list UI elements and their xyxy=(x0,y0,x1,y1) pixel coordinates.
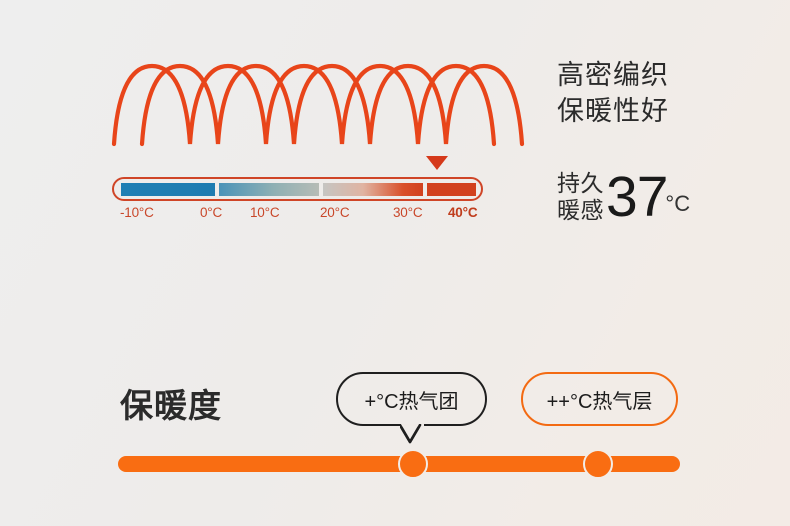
temperature-tick-labels: -10°C 0°C 10°C 20°C 30°C 40°C xyxy=(110,205,490,227)
heat-wave-coil-graphic xyxy=(108,44,528,152)
headline-line-2: 保暖性好 xyxy=(557,94,669,130)
temperature-readout: 持久 暖感 37 °C xyxy=(557,170,690,224)
warmth-section-title: 保暖度 xyxy=(120,379,222,427)
temperature-segment-cold xyxy=(121,183,215,196)
bubble-hot-air-mass-tail-icon xyxy=(400,424,426,444)
temperature-tick-10: 10°C xyxy=(250,205,279,220)
bubble-hot-air-layer-label: ++°C热气层 xyxy=(547,385,653,414)
readout-label-line-1: 持久 xyxy=(557,170,604,197)
readout-unit: °C xyxy=(665,191,690,217)
warmth-slider-knob-2[interactable] xyxy=(583,449,613,479)
temperature-tick-0: 0°C xyxy=(200,205,222,220)
warmth-level-slider[interactable] xyxy=(118,449,680,479)
readout-label-line-2: 暖感 xyxy=(557,197,604,224)
temperature-segment-warm xyxy=(323,183,423,196)
temperature-tick-minus10: -10°C xyxy=(120,205,154,220)
headline-line-1: 高密编织 xyxy=(557,58,669,94)
bubble-hot-air-layer[interactable]: ++°C热气层 xyxy=(521,372,678,426)
bubble-hot-air-mass-label: +°C热气团 xyxy=(364,385,458,414)
readout-label: 持久 暖感 xyxy=(557,170,604,223)
promo-banner: -10°C 0°C 10°C 20°C 30°C 40°C 高密编织 保暖性好 … xyxy=(0,0,790,526)
readout-value: 37 xyxy=(606,170,667,224)
temperature-segment-hot xyxy=(427,183,476,196)
temperature-tick-30: 30°C xyxy=(393,205,422,220)
temperature-marker-triangle-icon xyxy=(426,156,448,170)
temperature-bar-segments xyxy=(121,183,476,196)
bubble-hot-air-mass[interactable]: +°C热气团 xyxy=(336,372,487,426)
temperature-segment-cool xyxy=(219,183,319,196)
temperature-tick-40: 40°C xyxy=(448,205,477,220)
temperature-scale: -10°C 0°C 10°C 20°C 30°C 40°C xyxy=(110,156,492,236)
headline-block: 高密编织 保暖性好 xyxy=(557,58,669,130)
warmth-slider-knob-1[interactable] xyxy=(398,449,428,479)
temperature-tick-20: 20°C xyxy=(320,205,349,220)
